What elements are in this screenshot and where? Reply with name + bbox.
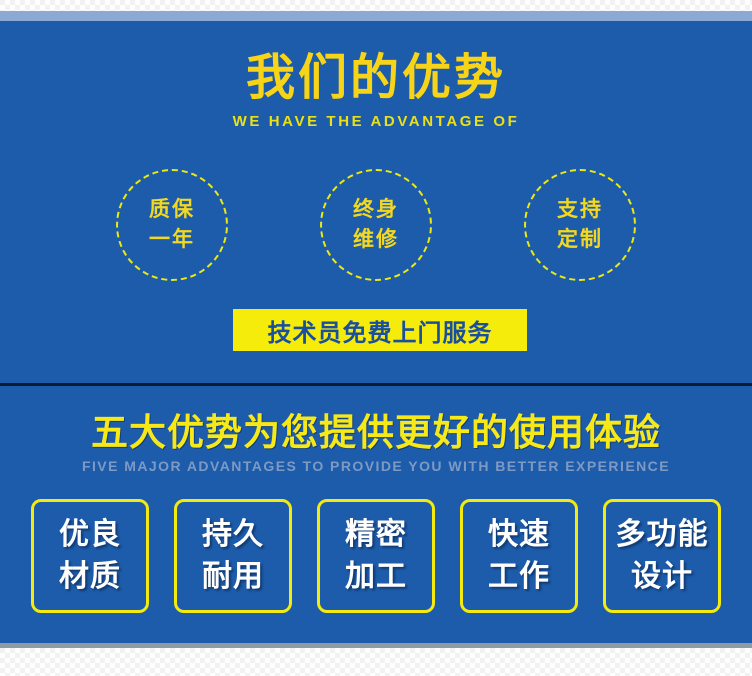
page-subtitle: WE HAVE THE ADVANTAGE OF (0, 113, 752, 130)
feature-circle-warranty[interactable]: 质保 一年 (116, 169, 228, 281)
advantage-boxes-row: 优良 材质 持久 耐用 精密 加工 快速 工作 多功能 设计 (0, 499, 752, 613)
feature-circle-line2: 维修 (353, 225, 399, 255)
promo-banner-page: 我们的优势 WE HAVE THE ADVANTAGE OF 质保 一年 终身 … (0, 0, 752, 676)
advantage-box-line1: 快速 (488, 514, 550, 556)
advantage-box-line2: 耐用 (202, 556, 264, 598)
advantage-box-line1: 多功能 (616, 514, 709, 556)
advantages-bottom-section: 五大优势为您提供更好的使用体验 FIVE MAJOR ADVANTAGES TO… (0, 386, 752, 643)
advantage-box-precision-machining[interactable]: 精密 加工 (317, 499, 435, 613)
feature-circle-line2: 一年 (149, 225, 195, 255)
feature-circle-line1: 质保 (149, 195, 195, 225)
advantage-box-line1: 持久 (202, 514, 264, 556)
bottom-section-subtitle: FIVE MAJOR ADVANTAGES TO PROVIDE YOU WIT… (0, 458, 752, 474)
advantage-box-multifunction-design[interactable]: 多功能 设计 (603, 499, 721, 613)
feature-circle-customization[interactable]: 支持 定制 (524, 169, 636, 281)
bottom-texture-strip (0, 648, 752, 676)
advantages-top-section: 我们的优势 WE HAVE THE ADVANTAGE OF 质保 一年 终身 … (0, 21, 752, 385)
feature-circle-line2: 定制 (557, 225, 603, 255)
feature-circle-lifetime-repair[interactable]: 终身 维修 (320, 169, 432, 281)
advantage-box-line2: 加工 (345, 556, 407, 598)
feature-circles-row: 质保 一年 终身 维修 支持 定制 (0, 169, 752, 281)
advantage-box-line1: 精密 (345, 514, 407, 556)
feature-circle-line1: 终身 (353, 195, 399, 225)
bottom-section-title: 五大优势为您提供更好的使用体验 (0, 402, 752, 456)
advantage-box-line2: 设计 (631, 556, 693, 598)
advantage-box-quality-material[interactable]: 优良 材质 (31, 499, 149, 613)
advantage-box-line2: 工作 (488, 556, 550, 598)
advantage-box-line1: 优良 (59, 514, 121, 556)
page-title: 我们的优势 (0, 50, 752, 106)
top-texture-strip (0, 0, 752, 11)
free-onsite-service-banner-label: 技术员免费上门服务 (268, 313, 493, 348)
top-light-blue-band (0, 11, 752, 21)
feature-circle-line1: 支持 (557, 195, 603, 225)
advantage-box-durable[interactable]: 持久 耐用 (174, 499, 292, 613)
free-onsite-service-banner[interactable]: 技术员免费上门服务 (233, 309, 527, 351)
advantage-box-fast-work[interactable]: 快速 工作 (460, 499, 578, 613)
advantage-box-line2: 材质 (59, 556, 121, 598)
